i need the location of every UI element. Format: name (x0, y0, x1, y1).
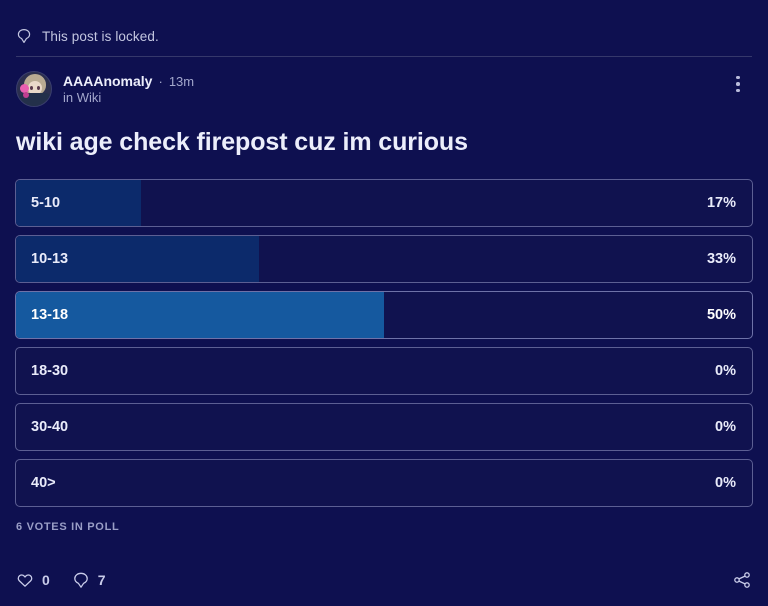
poll-option-label: 10-13 (16, 251, 68, 267)
poll-option-label: 13-18 (16, 307, 68, 323)
locked-banner: This post is locked. (0, 0, 768, 56)
more-vertical-icon[interactable] (724, 70, 752, 98)
poll-option-0[interactable]: 5-10 17% (15, 179, 753, 227)
poll-option-label: 5-10 (16, 195, 60, 211)
comment-button[interactable]: 7 (72, 571, 106, 589)
like-button[interactable]: 0 (16, 571, 50, 589)
poll-option-label: 40> (16, 475, 56, 491)
poll-option-3[interactable]: 18-30 0% (15, 347, 753, 395)
share-button[interactable] (732, 570, 752, 590)
poll-option-2[interactable]: 13-18 50% (15, 291, 753, 339)
author-primary-line: AAAAnomaly · 13m (63, 73, 194, 89)
poll-option-5[interactable]: 40> 0% (15, 459, 753, 507)
poll-option-1[interactable]: 10-13 33% (15, 235, 753, 283)
heart-icon (16, 571, 34, 589)
more-dot-2 (736, 82, 740, 86)
poll-option-percent: 50% (707, 307, 752, 323)
poll-option-percent: 0% (715, 363, 752, 379)
avatar-eye-right (37, 86, 40, 90)
author-name[interactable]: AAAAnomaly (63, 73, 152, 89)
author-row: AAAAnomaly · 13m in Wiki (0, 57, 768, 111)
avatar[interactable] (16, 71, 52, 107)
poll-options-list: 5-10 17% 10-13 33% 13-18 50% 18-30 0% 30… (0, 157, 768, 507)
more-dot-1 (736, 76, 740, 80)
post-timestamp: 13m (169, 74, 194, 89)
poll-option-percent: 33% (707, 251, 752, 267)
speech-bubble-icon (16, 28, 32, 44)
poll-post: This post is locked. AAAAnomaly · 13m in… (0, 0, 768, 606)
poll-option-label: 30-40 (16, 419, 68, 435)
page-title: wiki age check firepost cuz im curious (0, 111, 768, 157)
poll-vote-count: 6 VOTES IN POLL (0, 507, 768, 533)
avatar-eye-left (30, 86, 33, 90)
author-meta: AAAAnomaly · 13m in Wiki (63, 73, 194, 105)
comment-icon (72, 571, 90, 589)
poll-fill-2 (16, 292, 384, 338)
post-community[interactable]: in Wiki (63, 90, 194, 105)
author-separator: · (158, 74, 162, 89)
poll-option-4[interactable]: 30-40 0% (15, 403, 753, 451)
poll-option-percent: 17% (707, 195, 752, 211)
comment-count: 7 (98, 572, 106, 588)
poll-option-percent: 0% (715, 419, 752, 435)
locked-banner-text: This post is locked. (42, 29, 159, 44)
post-footer: 0 7 (0, 570, 768, 606)
share-icon (732, 570, 752, 590)
poll-option-percent: 0% (715, 475, 752, 491)
more-dot-3 (736, 89, 740, 93)
poll-option-label: 18-30 (16, 363, 68, 379)
avatar-flower-small (23, 92, 29, 98)
like-count: 0 (42, 572, 50, 588)
